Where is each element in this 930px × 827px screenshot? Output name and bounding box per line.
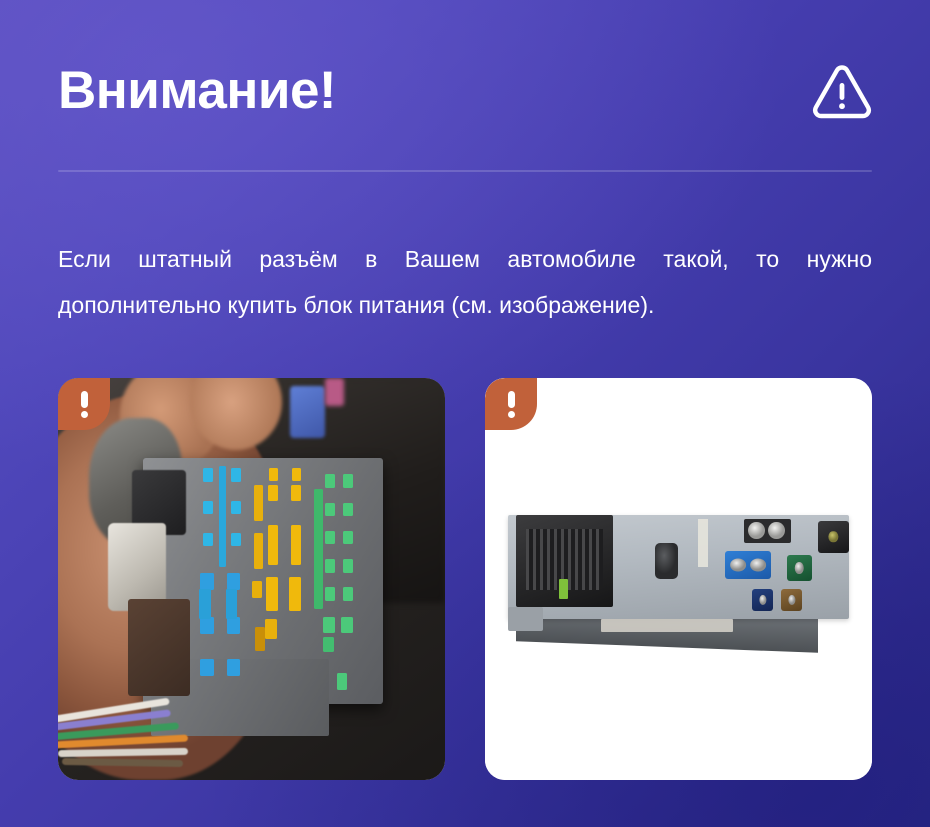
attention-badge [485, 378, 537, 430]
connector-photo-card[interactable] [58, 378, 445, 780]
exclamation-icon [508, 391, 515, 408]
page-title: Внимание! [58, 61, 336, 121]
body-text-line-2: дополнительно купить блок питания (см. и… [58, 282, 872, 328]
banner-header: Внимание! [58, 52, 872, 130]
warning-triangle-icon [812, 62, 872, 120]
body-text-line-1: Если штатный разъём в Вашем автомобиле т… [58, 236, 872, 282]
warning-banner: Внимание! Если штатный разъём в Вашем ав… [0, 0, 930, 827]
header-divider [58, 170, 872, 172]
body-text: Если штатный разъём в Вашем автомобиле т… [58, 236, 872, 328]
power-supply-photo-card[interactable] [485, 378, 872, 780]
exclamation-icon [81, 391, 88, 408]
attention-badge [58, 378, 110, 430]
power-supply-photo-image [485, 378, 872, 780]
photo-card-row [58, 378, 872, 780]
connector-photo-image [58, 378, 445, 780]
